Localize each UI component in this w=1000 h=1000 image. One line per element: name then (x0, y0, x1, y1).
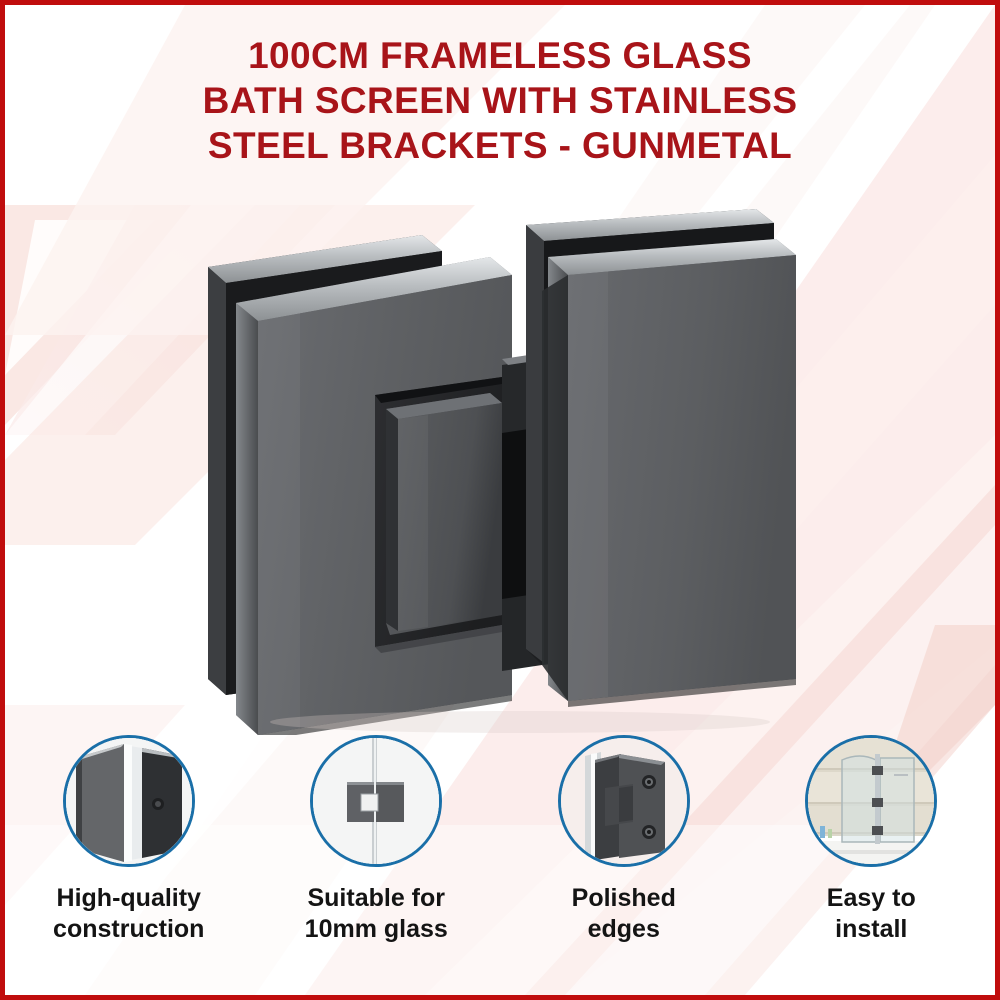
feature-label: Easy to install (827, 883, 916, 944)
feature-label-line-2: install (827, 914, 916, 945)
feature-label-line-1: Polished (572, 883, 676, 914)
feature-thumb-bracket-profile (63, 735, 195, 867)
feature-item-suitable-for-10mm-glass: Suitable for 10mm glass (269, 735, 484, 944)
bracket-profile-thumb-icon (66, 738, 192, 864)
feature-label-line-1: Easy to (827, 883, 916, 914)
feature-thumb-glass-hinge (310, 735, 442, 867)
feature-label: Suitable for 10mm glass (305, 883, 448, 944)
feature-label-line-2: construction (53, 914, 204, 945)
feature-label: High-quality construction (53, 883, 204, 944)
feature-item-polished-edges: Polished edges (516, 735, 731, 944)
hero-product-image (5, 195, 995, 755)
feature-item-high-quality-construction: High-quality construction (21, 735, 236, 944)
page-title-line-1: 100CM FRAMELESS GLASS (5, 33, 995, 78)
page-title-line-3: STEEL BRACKETS - GUNMETAL (5, 123, 995, 168)
feature-thumb-hinge-closeup (558, 735, 690, 867)
product-listing-image: 100CM FRAMELESS GLASS BATH SCREEN WITH S… (0, 0, 1000, 1000)
feature-label-line-2: 10mm glass (305, 914, 448, 945)
gunmetal-hinge-bracket-render (190, 195, 810, 735)
feature-thumb-bathroom-screen (805, 735, 937, 867)
bathroom-screen-thumb-icon (808, 738, 934, 864)
hinge-closeup-thumb-icon (561, 738, 687, 864)
feature-label-line-1: Suitable for (305, 883, 448, 914)
feature-label: Polished edges (572, 883, 676, 944)
feature-label-line-1: High-quality (53, 883, 204, 914)
feature-strip: High-quality construction (5, 735, 995, 975)
product-title-block: 100CM FRAMELESS GLASS BATH SCREEN WITH S… (5, 33, 995, 168)
feature-item-easy-to-install: Easy to install (764, 735, 979, 944)
glass-hinge-thumb-icon (313, 738, 439, 864)
feature-label-line-2: edges (572, 914, 676, 945)
page-title-line-2: BATH SCREEN WITH STAINLESS (5, 78, 995, 123)
